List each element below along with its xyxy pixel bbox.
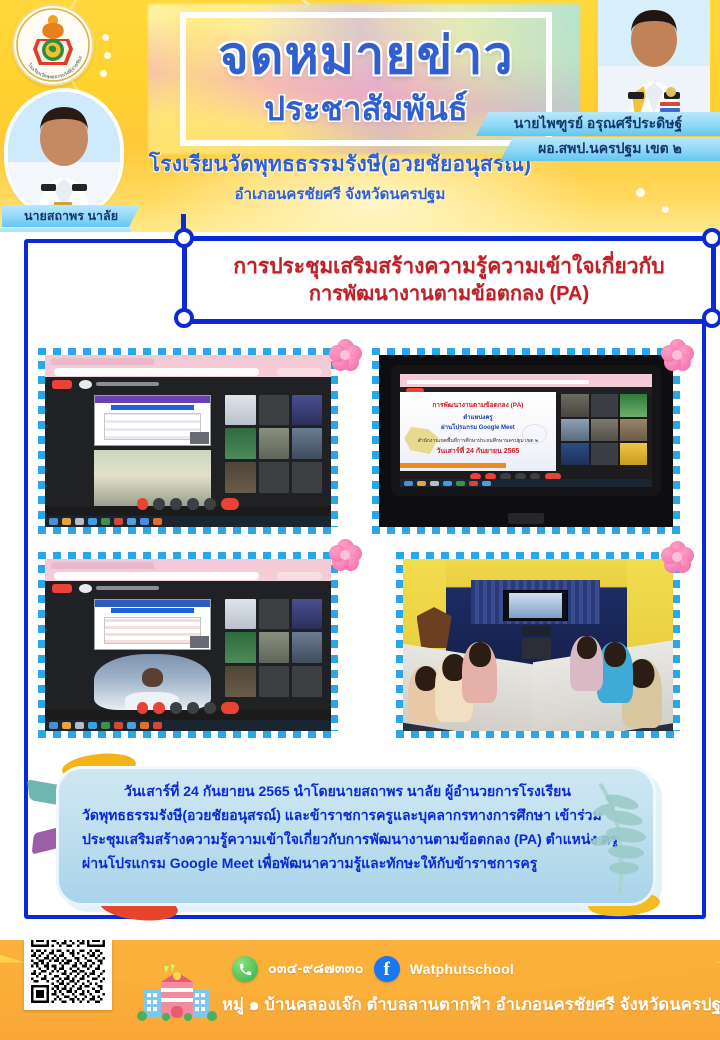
flower-decoration-4 [660,540,694,574]
description-box: วันเสาร์ที่ 24 กันยายน 2565 นำโดยนายสถาพ… [56,766,656,906]
facebook-icon: f [374,956,400,982]
description-line-1: วันเสาร์ที่ 24 กันยายน 2565 นำโดยนายสถาพ… [82,779,630,803]
event-title-line-2: การพัฒนางานตามข้อตกลง (PA) [309,281,589,307]
school-name: โรงเรียนวัดพุทธธรรมรังษี(อวยชัยอนุสรณ์) [110,148,570,181]
newsletter-poster: จดหมายข่าว ประชาสัมพันธ์ โรงเรียนวัดพุทธ… [0,0,720,1040]
footer-band: ๐๓๔-๙๘๗๓๓๐ f Watphutschool หมู่ ๑ บ้านคล… [0,940,720,1040]
leaf-branch-decoration [590,780,662,898]
slide-line-2: ตำแหน่งครู [412,412,544,422]
qr-code[interactable] [24,940,112,1010]
banner-node-top-right [702,228,720,248]
flower-decoration-3 [328,538,362,572]
event-title-line-1: การประชุมเสริมสร้างความรู้ความเข้าใจเกี่… [233,253,664,280]
description-line-3: ประชุมเสริมสร้างความรู้ความเข้าใจเกี่ยวก… [82,827,630,851]
director-portrait [8,92,120,216]
phone-icon [232,956,258,982]
area-director-position-tag: ผอ.สพป.นครปฐม เขต ๒ [500,137,720,161]
flower-decoration-1 [328,338,362,372]
phone-number: ๐๓๔-๙๘๗๓๓๐ [268,958,364,980]
banner-node-bottom-right [702,308,720,328]
photo-2: การพัฒนางานตามข้อตกลง (PA) ตำแหน่งครู ผ่… [372,348,680,534]
meeting-room-photo [403,559,673,731]
event-title-banner: การประชุมเสริมสร้างความรู้ความเข้าใจเกี่… [182,236,716,324]
photo-1 [38,348,338,534]
school-emblem-icon: โรงเรียนวัดพุทธธรรมรังษี(อวยชัยอนุสรณ์) [14,6,92,84]
slide-line-4: สำนักงานเขตพื้นที่การศึกษาประถมศึกษานครป… [412,437,544,445]
slide-date: วันเสาร์ที่ 24 กันยายน 2565 [412,446,544,457]
google-meet-screenshot-2 [45,559,331,731]
photo-3 [38,552,338,738]
description-container: วันเสาร์ที่ 24 กันยายน 2565 นำโดยนายสถาพ… [56,766,656,906]
contact-row: ๐๓๔-๙๘๗๓๓๐ f Watphutschool [232,956,514,982]
school-address: หมู่ ๑ บ้านคลองเจ๊ก ตำบลลานตากฟ้า อำเภอน… [222,992,714,1018]
photo-4 [396,552,680,738]
newsletter-title: จดหมายข่าว [218,31,513,82]
director-name-tag: นายสถาพร นาลัย [2,205,140,227]
description-line-2: วัดพุทธธรรมรังษี(อวยชัยอนุสรณ์) และข้ารา… [82,803,630,827]
newsletter-subtitle: ประชาสัมพันธ์ [264,90,468,128]
banner-node-bottom-left [174,308,194,328]
facebook-page-name: Watphutschool [410,961,514,977]
school-building-icon [136,960,218,1024]
slide-line-3: ผ่านโปรแกรม Google Meet [412,422,544,432]
area-director-name-tag: นายไพฑูรย์ อรุณศรีประดิษฐ์ [476,112,720,136]
flower-decoration-2 [660,338,694,372]
area-director-portrait [598,0,710,126]
banner-node-top-left [174,228,194,248]
description-line-4: ผ่านโปรแกรม Google Meet เพื่อพัฒนาความรู… [82,851,630,875]
monitor-slide-screenshot: การพัฒนางานตามข้อตกลง (PA) ตำแหน่งครู ผ่… [379,355,673,527]
school-district: อำเภอนครชัยศรี จังหวัดนครปฐม [110,182,570,206]
slide-title: การพัฒนางานตามข้อตกลง (PA) [412,400,544,410]
google-meet-screenshot-1 [45,355,331,527]
